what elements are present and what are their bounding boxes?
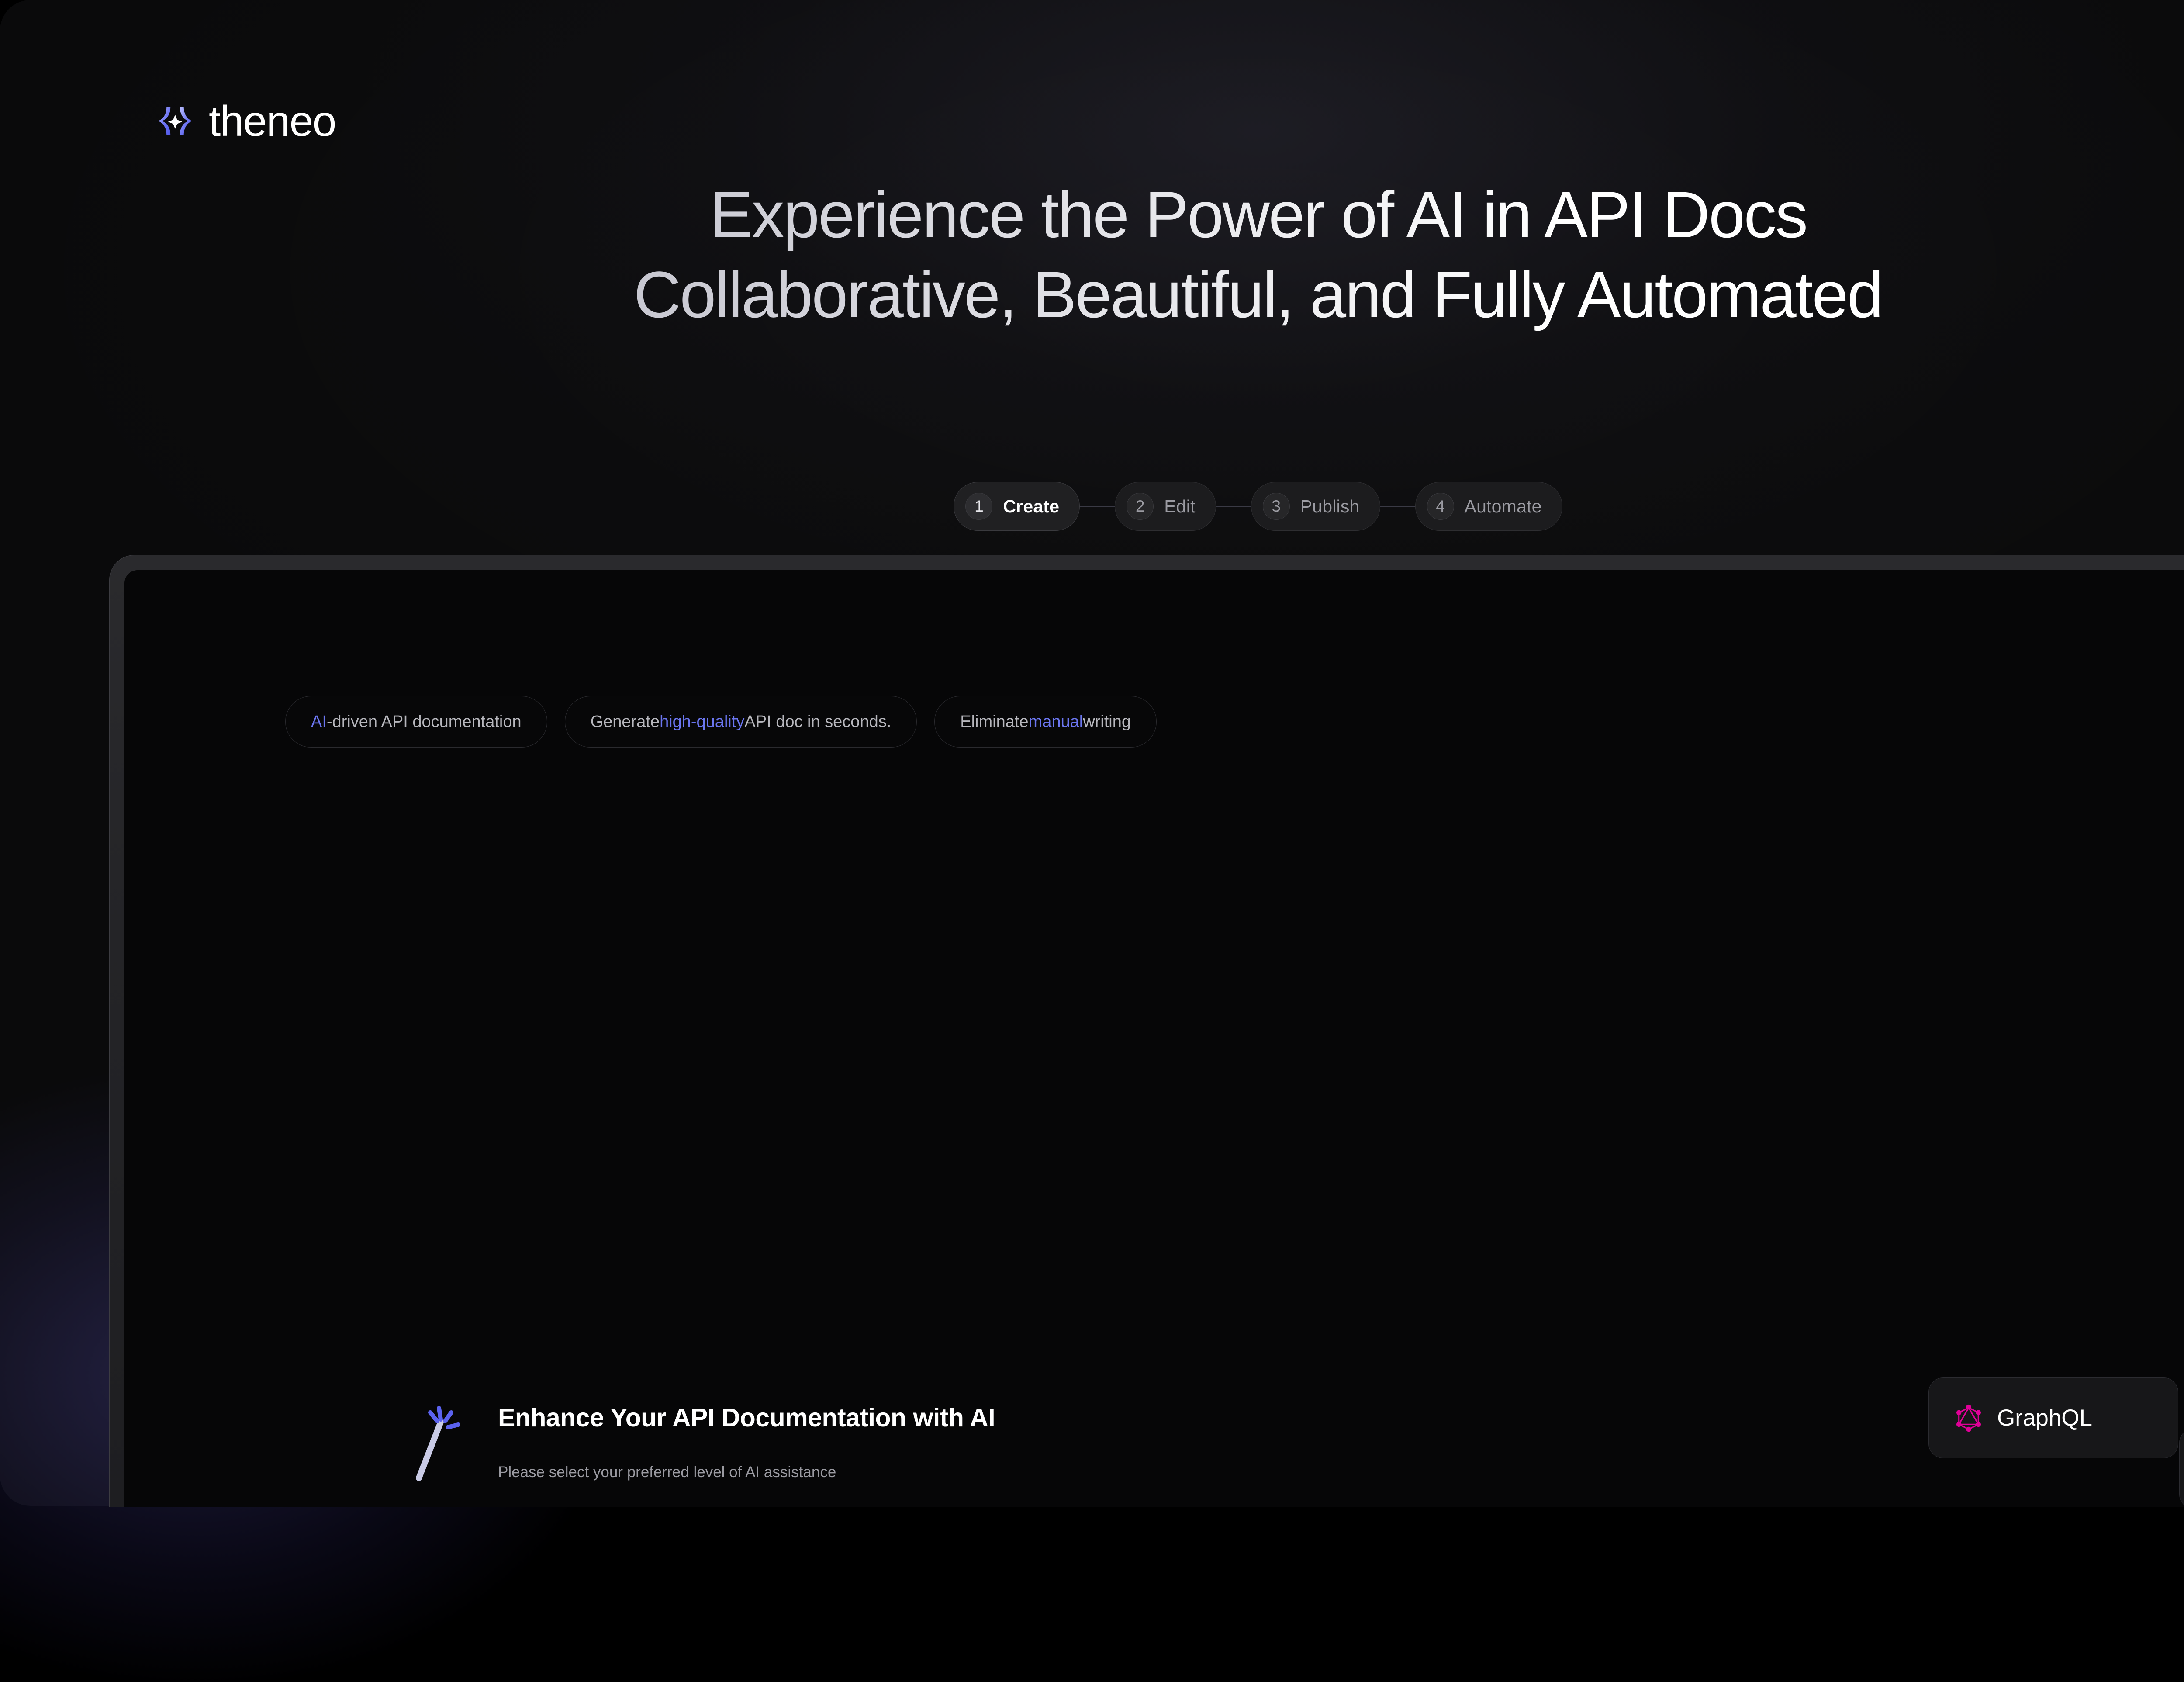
tag-prefix: Eliminate <box>960 713 1028 731</box>
page-title: Experience the Power of AI in API Docs C… <box>0 175 2184 335</box>
step-automate[interactable]: 4 Automate <box>1415 482 1562 531</box>
step-label: Create <box>1003 496 1059 517</box>
step-label: Automate <box>1465 496 1542 517</box>
step-connector <box>1378 506 1418 507</box>
step-label: Edit <box>1164 496 1195 517</box>
tag-suffix: -driven API documentation <box>327 713 522 731</box>
step-connector <box>1077 506 1117 507</box>
tag-eliminate-manual[interactable]: Eliminate manual writing <box>934 696 1157 748</box>
step-label: Publish <box>1300 496 1360 517</box>
step-number: 1 <box>965 493 992 520</box>
tag-highlight: AI <box>311 713 327 731</box>
chip-label: GraphQL <box>1997 1405 2092 1431</box>
step-connector <box>1213 506 1254 507</box>
magic-wand-icon <box>408 1401 469 1484</box>
chip-soap-api[interactable]: Soap-API <box>2179 1428 2184 1507</box>
step-create[interactable]: 1 Create <box>954 482 1080 531</box>
step-number: 2 <box>1127 493 1154 520</box>
section-subtitle: Please select your preferred level of AI… <box>498 1464 836 1481</box>
tag-prefix: Generate <box>591 713 660 731</box>
device-frame: AI-driven API documentation Generate hig… <box>109 555 2184 1507</box>
headline-line-2: Collaborative, Beautiful, and Fully Auto… <box>0 255 2184 335</box>
tag-high-quality[interactable]: Generate high-quality API doc in seconds… <box>565 696 917 748</box>
tag-ai-driven[interactable]: AI-driven API documentation <box>285 696 547 748</box>
step-number: 3 <box>1263 493 1290 520</box>
chip-graphql[interactable]: GraphQL <box>1928 1377 2178 1458</box>
step-number: 4 <box>1427 493 1454 520</box>
feature-tag-row: AI-driven API documentation Generate hig… <box>285 696 1157 748</box>
graphql-icon <box>1953 1403 1984 1433</box>
step-progress: 1 Create 2 Edit 3 Publish 4 Automate <box>0 482 2184 531</box>
tag-suffix: writing <box>1083 713 1131 731</box>
tag-suffix: API doc in seconds. <box>744 713 891 731</box>
section-title: Enhance Your API Documentation with AI <box>498 1403 995 1433</box>
tag-highlight: manual <box>1029 713 1083 731</box>
brand-name: theneo <box>209 100 336 142</box>
step-edit[interactable]: 2 Edit <box>1115 482 1216 531</box>
step-publish[interactable]: 3 Publish <box>1251 482 1380 531</box>
sparkle-logo-icon <box>156 102 194 140</box>
tag-highlight: high-quality <box>660 713 744 731</box>
app-screen: AI-driven API documentation Generate hig… <box>124 570 2184 1507</box>
brand-logo[interactable]: theneo <box>156 100 336 142</box>
headline-line-1: Experience the Power of AI in API Docs <box>0 175 2184 255</box>
